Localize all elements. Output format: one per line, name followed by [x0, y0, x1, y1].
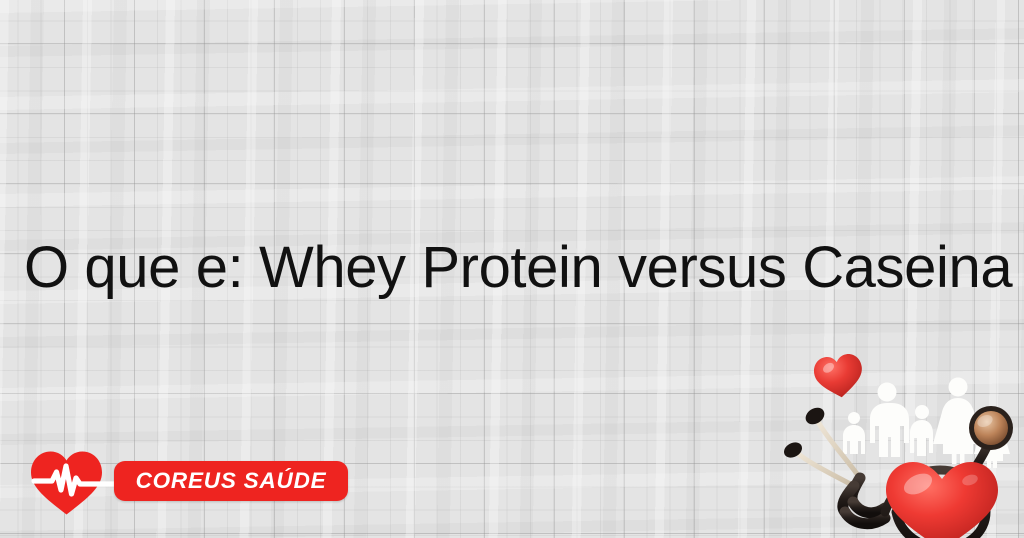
- family-figure-child-left: [843, 412, 865, 454]
- family-figure-child-middle: [910, 405, 933, 456]
- family-figure-father: [870, 383, 909, 458]
- brand-logo: COREUS SAÚDE: [28, 448, 350, 516]
- page-title: O que e: Whey Protein versus Caseina: [24, 236, 1014, 300]
- heart-ecg-icon: [28, 448, 120, 516]
- poster-canvas: O que e: Whey Protein versus Caseina COR…: [0, 0, 1024, 538]
- stethoscope-eartips: [782, 404, 827, 460]
- small-heart-icon: [812, 352, 865, 400]
- brand-name-badge: COREUS SAÚDE: [114, 461, 348, 501]
- brand-name-label: COREUS SAÚDE: [114, 461, 348, 501]
- health-illustration: [782, 352, 1024, 538]
- stethoscope-chestpiece: [969, 406, 1013, 450]
